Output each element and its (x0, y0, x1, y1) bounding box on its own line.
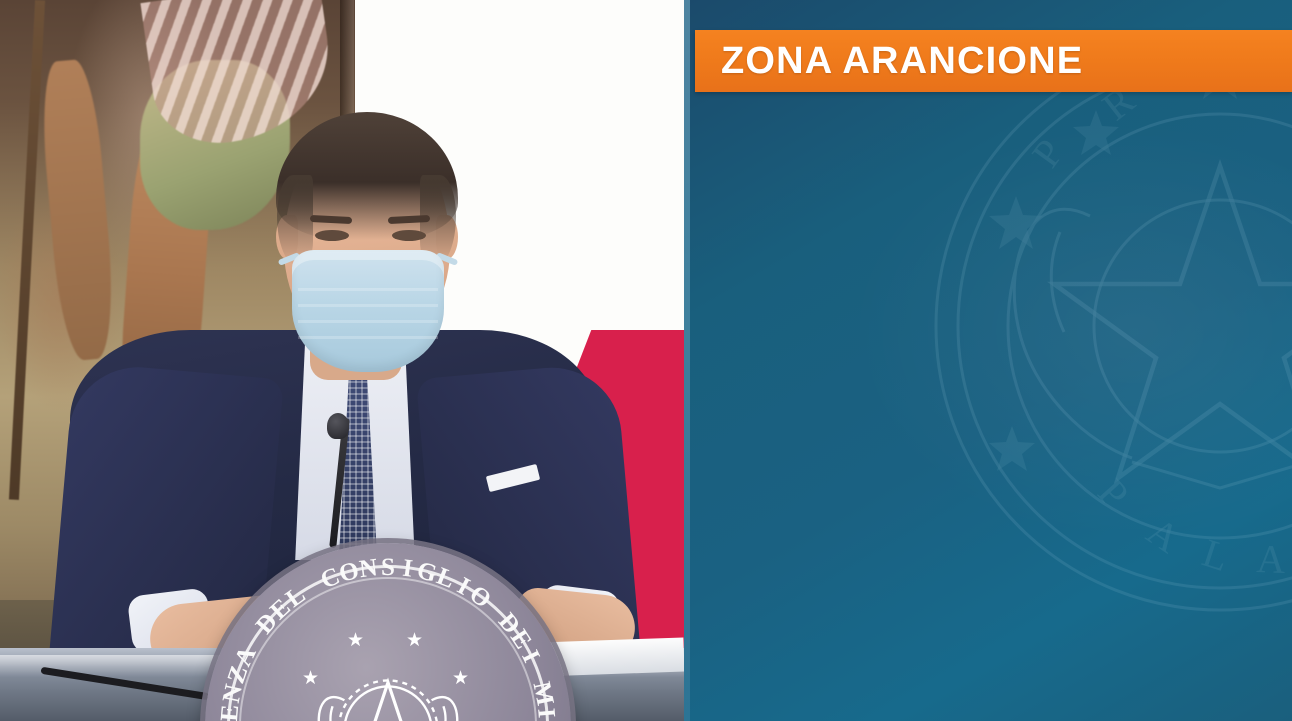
emblem-letter: I (401, 555, 414, 584)
eye-right (392, 230, 426, 241)
face-mask (292, 250, 444, 372)
eye-left (315, 230, 349, 241)
svg-text:P: P (1023, 131, 1072, 175)
info-panel: P R E S I D P A L A Z Z O (684, 0, 1292, 721)
emblem-star: ★ (405, 631, 424, 650)
svg-text:L: L (1197, 530, 1234, 580)
emblem-star: ★ (301, 669, 320, 688)
zone-banner-title: ZONA ARANCIONE (721, 42, 1083, 80)
svg-text:A: A (1139, 508, 1188, 562)
podium-emblem: PRESIDENZADELCONSIGLIODEIMINISTRI ★ (205, 543, 571, 721)
emblem-letter: S (381, 554, 395, 582)
emblem-letter: M (527, 679, 559, 708)
svg-text:A: A (1256, 536, 1287, 582)
panel-left-edge (684, 0, 690, 721)
emblem-letter: E (216, 704, 245, 721)
zone-banner: ZONA ARANCIONE (695, 30, 1292, 92)
emblem-letter: I (531, 707, 560, 719)
palazzo-chigi-watermark-icon: P R E S I D P A L A Z Z O (920, 26, 1292, 626)
emblem-letter: N (358, 554, 379, 584)
svg-text:P: P (1089, 470, 1137, 517)
emblem-star: ★ (451, 669, 470, 688)
broadcast-frame: PRESIDENZADELCONSIGLIODEIMINISTRI ★ (0, 0, 1292, 721)
emblem-star: ★ (346, 631, 365, 650)
video-feed: PRESIDENZADELCONSIGLIODEIMINISTRI ★ (0, 0, 684, 721)
microphone-icon (327, 413, 349, 439)
